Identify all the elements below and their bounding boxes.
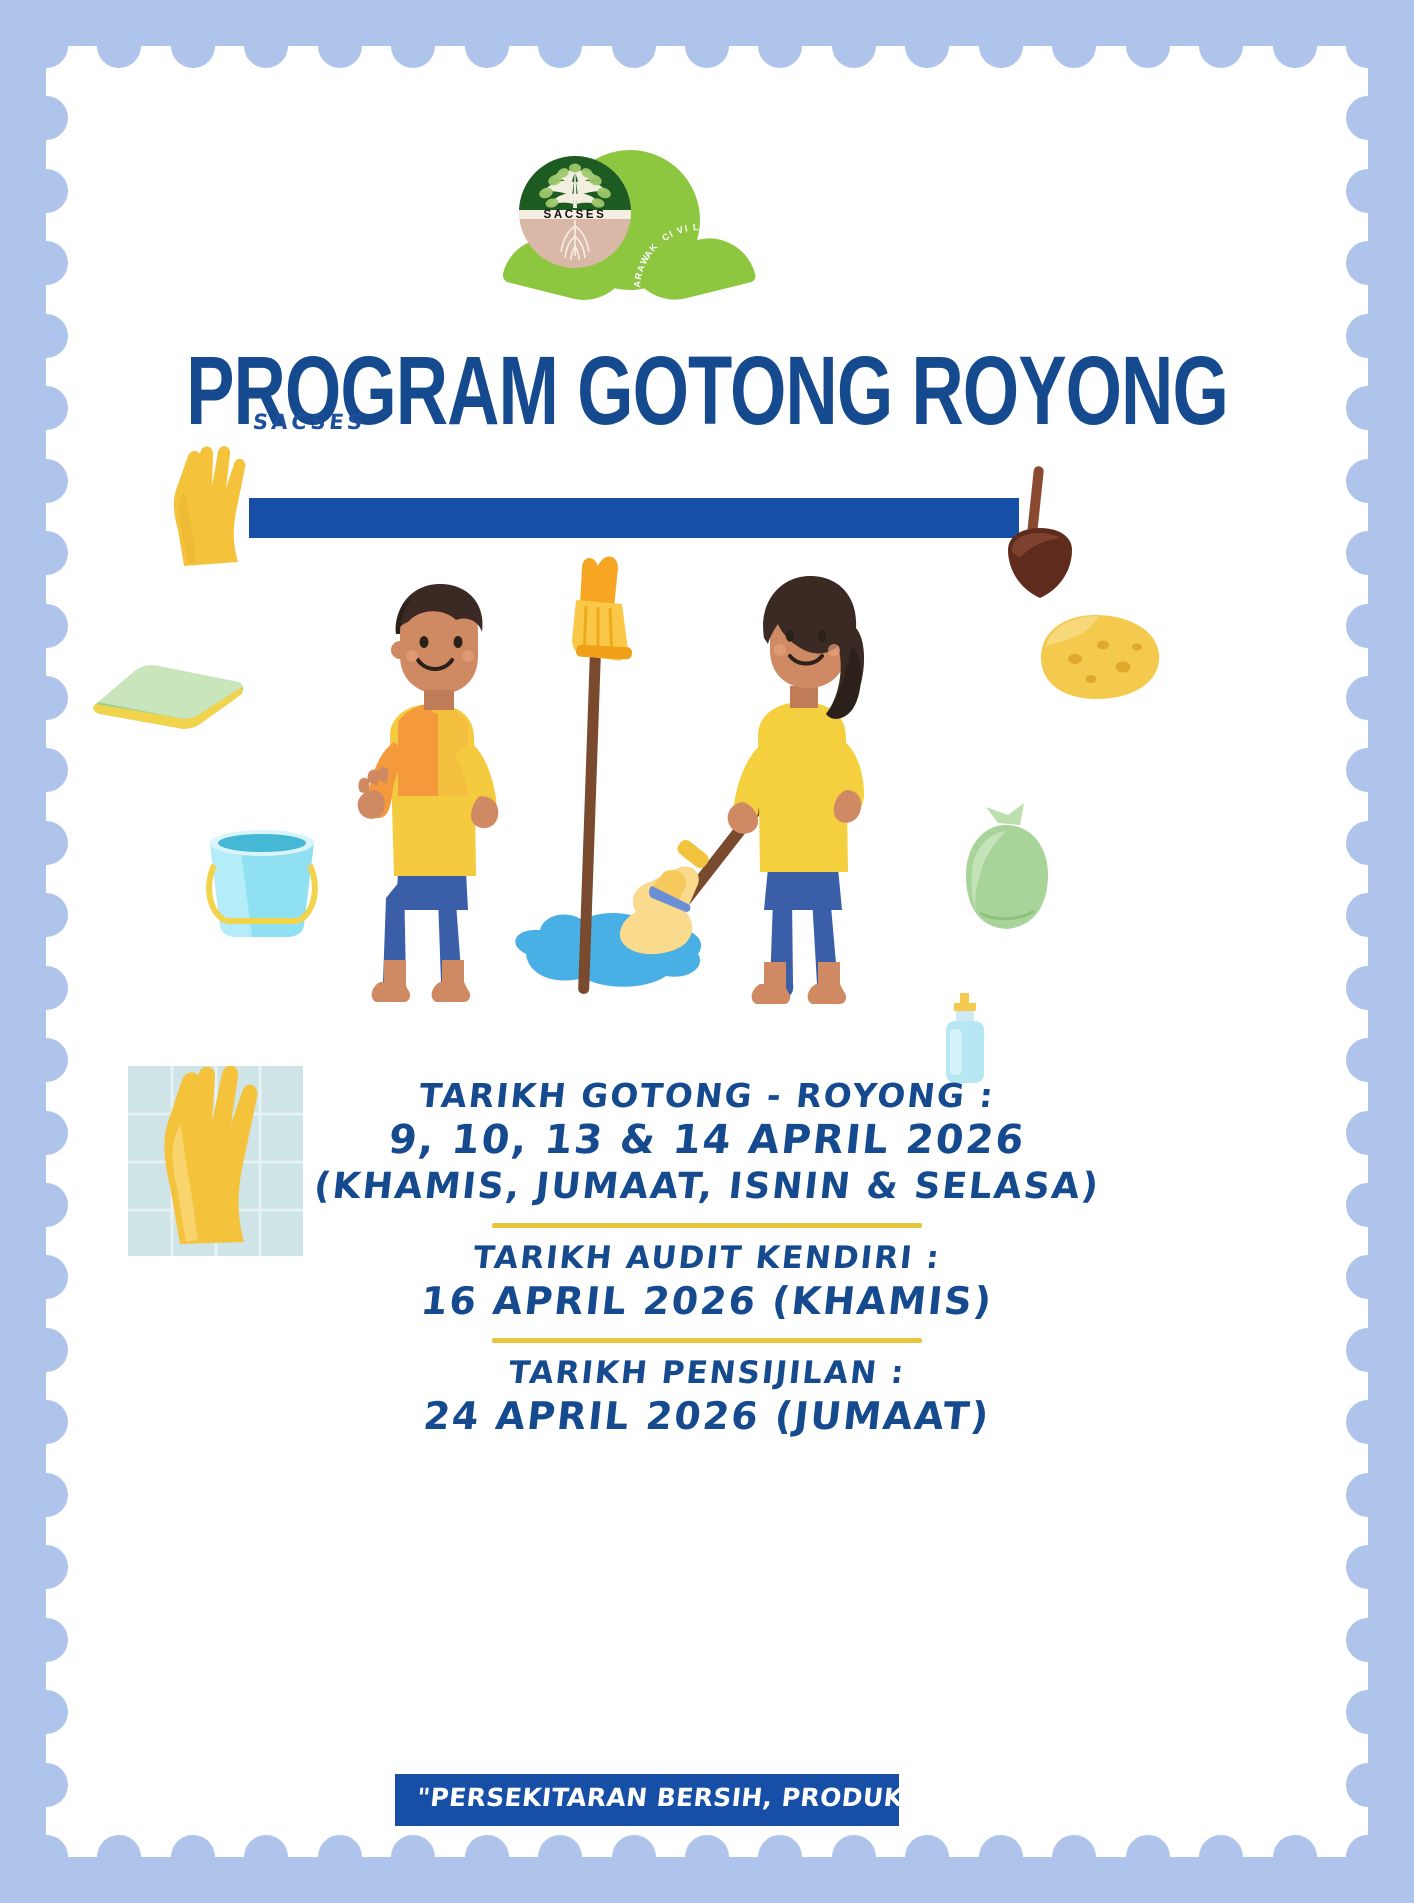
- divider-1: [492, 1223, 922, 1228]
- stamp-perforation: [24, 821, 68, 865]
- stamp-perforation: [1346, 314, 1390, 358]
- stamp-perforation: [1346, 748, 1390, 792]
- stamp-perforation: [1346, 893, 1390, 937]
- green-sponge-icon: [88, 648, 248, 736]
- yellow-gloves-icon: [154, 438, 274, 578]
- stamp-perforation: [1346, 459, 1390, 503]
- stamp-perforation: [1346, 1763, 1390, 1807]
- title-accent-bar: [249, 498, 1019, 538]
- stamp-perforation: [465, 1835, 509, 1879]
- gotong-royong-label: TARIKH GOTONG - ROYONG :: [46, 1076, 1368, 1116]
- gotong-royong-days: (KHAMIS, JUMAAT, ISNIN & SELASA): [46, 1165, 1368, 1209]
- plunger-icon: [986, 466, 1091, 606]
- logo-ring-text: STANDARD SARAWAK CIVIL SERVICE ENVIRONME…: [560, 150, 700, 290]
- stamp-perforation: [24, 1835, 68, 1879]
- stamp-perforation: [24, 604, 68, 648]
- divider-2: [492, 1338, 922, 1343]
- stamp-perforation: [24, 24, 68, 68]
- stamp-perforation: [1346, 1618, 1390, 1662]
- stamp-perforation: [538, 1835, 582, 1879]
- stamp-perforation: [97, 1835, 141, 1879]
- stamp-perforation: [1273, 1835, 1317, 1879]
- stamp-perforation: [1052, 1835, 1096, 1879]
- stamp-perforation: [1346, 676, 1390, 720]
- stamp-perforation: [24, 1690, 68, 1734]
- stamp-perforation: [24, 893, 68, 937]
- stamp-perforation: [391, 24, 435, 68]
- stamp-perforation: [1052, 24, 1096, 68]
- stamp-perforation: [1346, 966, 1390, 1010]
- stamp-perforation: [832, 1835, 876, 1879]
- stamp-perforation: [24, 1473, 68, 1517]
- dates-block: TARIKH GOTONG - ROYONG : 9, 10, 13 & 14 …: [46, 1076, 1368, 1439]
- audit-label: TARIKH AUDIT KENDIRI :: [46, 1240, 1368, 1278]
- stamp-perforation: [1346, 821, 1390, 865]
- soap-bottle-icon: [936, 991, 996, 1086]
- cleaning-people-illustration: [346, 546, 906, 1056]
- stamp-perforation: [244, 24, 288, 68]
- stamp-perforation: [1346, 531, 1390, 575]
- stamp-perforation: [24, 676, 68, 720]
- page-subtitle: SACSES: [252, 410, 368, 434]
- stamp-perforation: [24, 314, 68, 358]
- stamp-perforation: [24, 531, 68, 575]
- stamp-perforation: [1346, 96, 1390, 140]
- stamp-perforation: [24, 1763, 68, 1807]
- stamp-perforation: [1346, 1255, 1390, 1299]
- stamp-perforation: [24, 1111, 68, 1155]
- stamp-perforation: [905, 24, 949, 68]
- stamp-perforation: [979, 24, 1023, 68]
- stamp-perforation: [1346, 1473, 1390, 1517]
- stamp-perforation: [24, 1038, 68, 1082]
- stamp-perforation: [1199, 24, 1243, 68]
- stamp-perforation: [24, 1183, 68, 1227]
- stamp-perforation: [685, 1835, 729, 1879]
- stamp-perforation: [1346, 1400, 1390, 1444]
- stamp-perforation: [1273, 24, 1317, 68]
- blue-bucket-icon: [196, 821, 326, 941]
- stamp-perforation: [24, 241, 68, 285]
- pensijilan-label: TARIKH PENSIJILAN :: [46, 1355, 1368, 1393]
- stamp-perforation: [1199, 1835, 1243, 1879]
- pensijilan-date: 24 APRIL 2026 (JUMAAT): [46, 1393, 1368, 1439]
- slogan-banner: "PERSEKITARAN BERSIH, PRODUKTIVITI MENIN…: [395, 1774, 899, 1826]
- stamp-perforation: [171, 1835, 215, 1879]
- boy-with-broom: [358, 584, 499, 1002]
- audit-date: 16 APRIL 2026 (KHAMIS): [46, 1278, 1368, 1324]
- stamp-perforation: [1346, 241, 1390, 285]
- stamp-perforation: [1346, 1328, 1390, 1372]
- stamp-perforation: [1126, 1835, 1170, 1879]
- stamp-perforation: [1346, 604, 1390, 648]
- trash-bag-icon: [946, 801, 1066, 941]
- slogan-text: "PERSEKITARAN BERSIH, PRODUKTIVITI MENIN…: [415, 1783, 899, 1812]
- stamp-perforation: [979, 1835, 1023, 1879]
- stamp-perforation: [612, 24, 656, 68]
- stamp-perforation: [171, 24, 215, 68]
- stamp-perforation: [318, 24, 362, 68]
- poster-root: SACSES STANDARD SARAWAK CIVIL SERVICE EN…: [0, 0, 1414, 1903]
- stamp-perforation: [465, 24, 509, 68]
- stamp-perforation: [1346, 1111, 1390, 1155]
- stamp-perforation: [391, 1835, 435, 1879]
- stamp-perforation: [685, 24, 729, 68]
- stamp-perforation: [758, 1835, 802, 1879]
- stamp-perforation: [1126, 24, 1170, 68]
- stamp-perforation: [1346, 1183, 1390, 1227]
- stamp-perforation: [1346, 1038, 1390, 1082]
- stamp-perforation: [832, 24, 876, 68]
- sacses-logo: SACSES STANDARD SARAWAK CIVIL SERVICE EN…: [505, 142, 753, 302]
- yellow-sponge-icon: [1031, 601, 1166, 711]
- woman-with-mop: [728, 576, 864, 1004]
- stamp-perforation: [24, 459, 68, 503]
- stamp-perforation: [24, 386, 68, 430]
- stamp-perforation: [24, 1328, 68, 1372]
- stamp-perforation: [612, 1835, 656, 1879]
- stamp-perforation: [538, 24, 582, 68]
- stamp-perforation: [1346, 24, 1390, 68]
- stamp-perforation: [1346, 386, 1390, 430]
- stamp-sheet: SACSES STANDARD SARAWAK CIVIL SERVICE EN…: [46, 46, 1368, 1857]
- stamp-perforation: [24, 169, 68, 213]
- gotong-royong-date: 9, 10, 13 & 14 APRIL 2026: [46, 1116, 1368, 1165]
- stamp-perforation: [1346, 169, 1390, 213]
- stamp-perforation: [1346, 1545, 1390, 1589]
- stamp-perforation: [318, 1835, 362, 1879]
- stamp-perforation: [1346, 1835, 1390, 1879]
- stamp-perforation: [24, 1545, 68, 1589]
- stamp-perforation: [24, 1618, 68, 1662]
- stamp-perforation: [1346, 1690, 1390, 1734]
- stamp-perforation: [905, 1835, 949, 1879]
- stamp-perforation: [24, 966, 68, 1010]
- stamp-perforation: [244, 1835, 288, 1879]
